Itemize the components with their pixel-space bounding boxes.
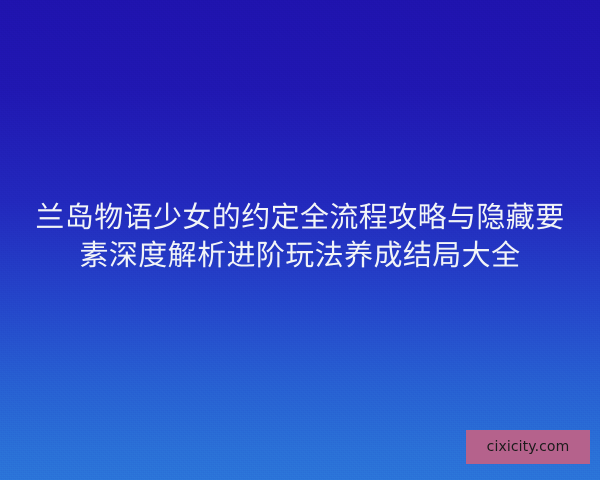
watermark-label: cixicity.com [487, 440, 570, 454]
title-line-2: 素深度解析进阶玩法养成结局大全 [16, 236, 584, 274]
title-card: 兰岛物语少女的约定全流程攻略与隐藏要 素深度解析进阶玩法养成结局大全 cixic… [0, 0, 600, 480]
title-line-1: 兰岛物语少女的约定全流程攻略与隐藏要 [16, 198, 584, 236]
watermark-badge: cixicity.com [466, 430, 590, 464]
page-title: 兰岛物语少女的约定全流程攻略与隐藏要 素深度解析进阶玩法养成结局大全 [0, 198, 600, 274]
